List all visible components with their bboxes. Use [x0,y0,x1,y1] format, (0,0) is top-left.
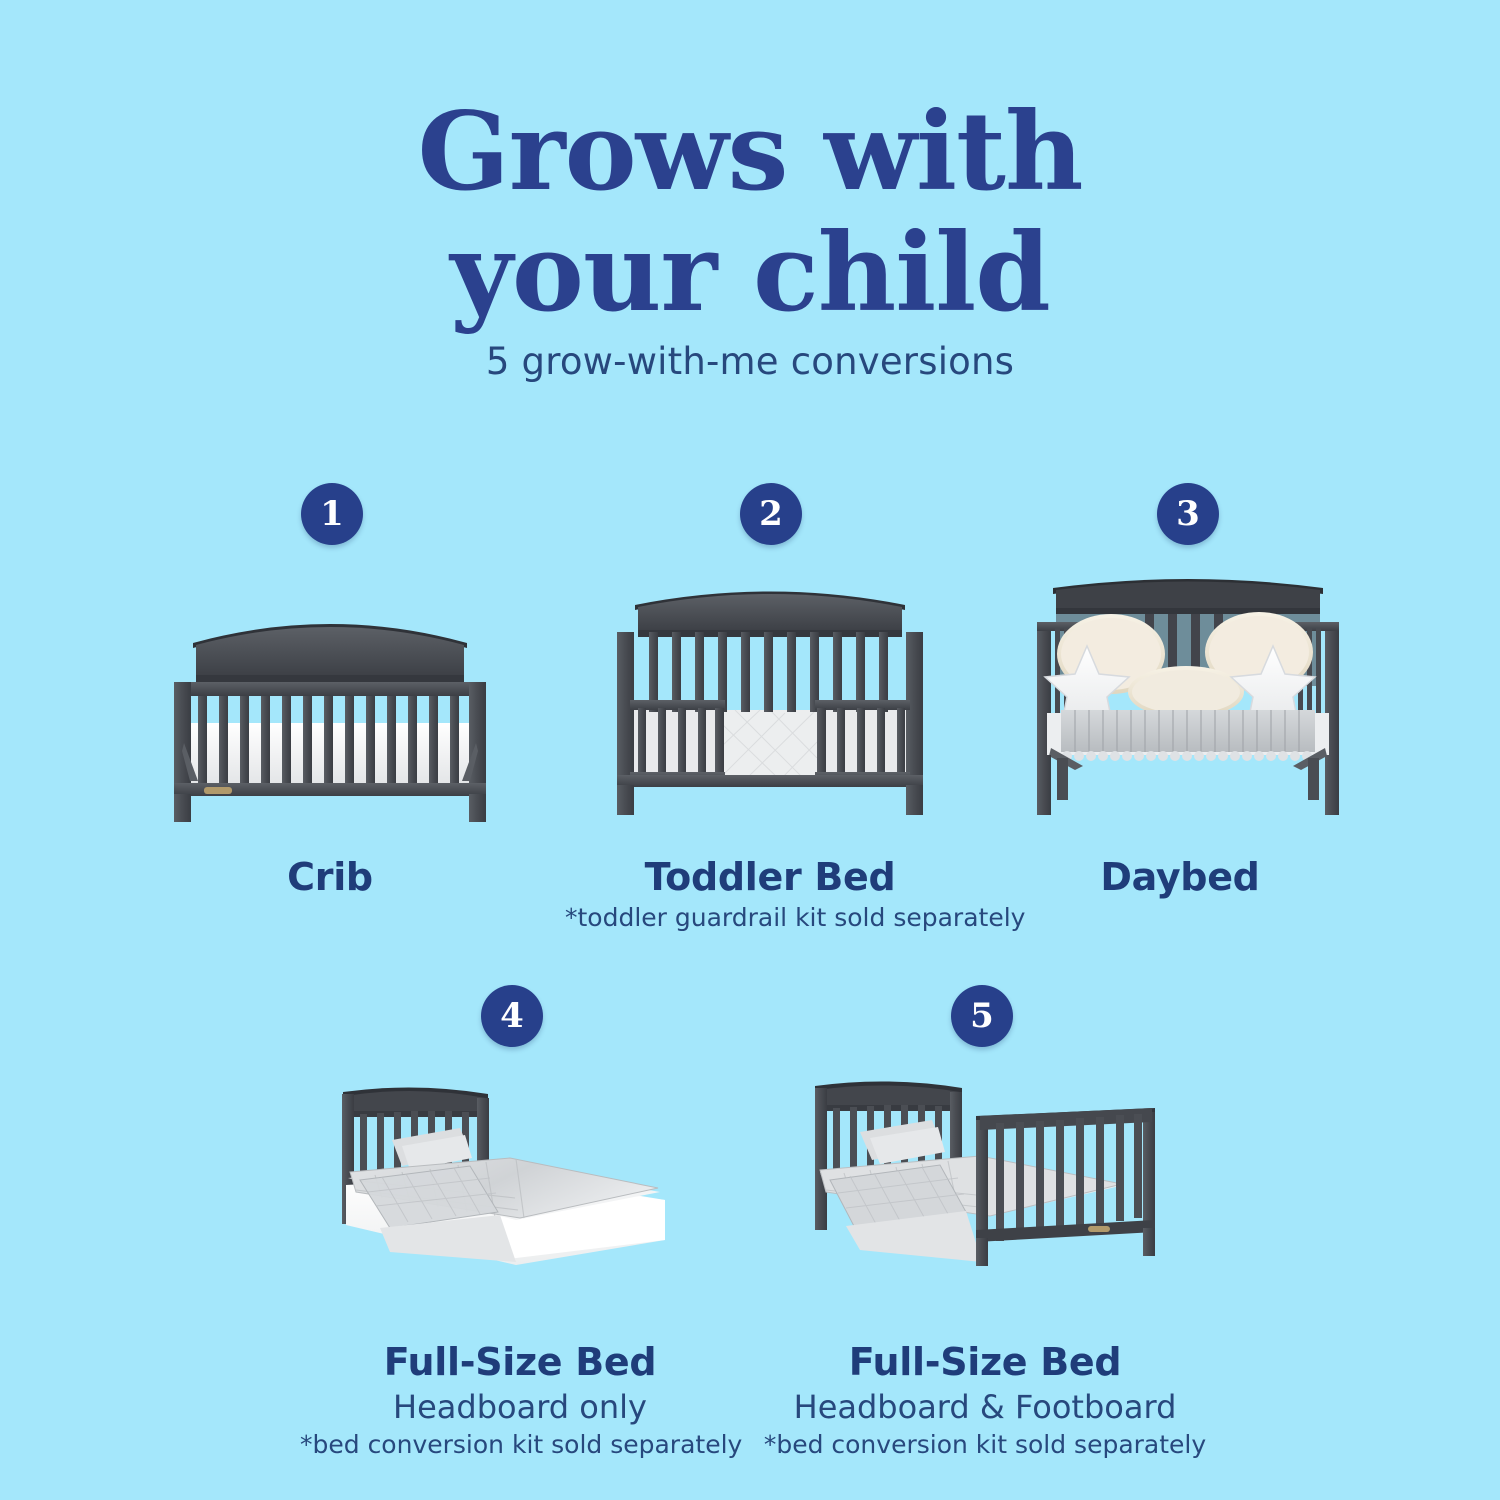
step-badge-1: 1 [301,483,363,545]
page-title-line-1: Grows with [418,89,1083,215]
caption-toddler-bed-title: Toddler Bed [565,855,975,899]
full-bed-headboard-footboard-icon [790,1080,1180,1280]
caption-full-bed-headboard-subtitle: Headboard only [300,1388,740,1426]
caption-full-bed-headboard-title: Full-Size Bed [300,1340,740,1384]
daybed-icon [1023,570,1353,820]
page-title-line-2: your child [0,213,1500,334]
caption-toddler-bed: Toddler Bed *toddler guardrail kit sold … [565,855,975,932]
caption-full-bed-headboard-footboard-note: *bed conversion kit sold separately [760,1430,1210,1459]
caption-full-bed-headboard-footboard: Full-Size Bed Headboard & Footboard *bed… [760,1340,1210,1459]
step-badge-1-number: 1 [320,494,344,534]
caption-daybed: Daybed [1080,855,1280,899]
step-badge-3-number: 3 [1176,494,1200,534]
step-badge-2: 2 [740,483,802,545]
step-badge-4-number: 4 [500,996,524,1036]
caption-crib-title: Crib [230,855,430,899]
full-bed-headboard-footboard-illustration [790,1080,1180,1280]
step-badge-3: 3 [1157,483,1219,545]
caption-toddler-bed-note: *toddler guardrail kit sold separately [565,903,975,932]
toddler-bed-icon [605,570,935,820]
caption-full-bed-headboard-footboard-title: Full-Size Bed [760,1340,1210,1384]
full-bed-headboard-icon [320,1080,720,1280]
infographic-canvas: Grows with your child 5 grow-with-me con… [0,0,1500,1500]
step-badge-2-number: 2 [759,494,783,534]
step-badge-5-number: 5 [970,996,994,1036]
step-badge-4: 4 [481,985,543,1047]
caption-full-bed-headboard: Full-Size Bed Headboard only *bed conver… [300,1340,740,1459]
page-subtitle: 5 grow-with-me conversions [0,340,1500,383]
caption-crib: Crib [230,855,430,899]
crib-illustration [160,575,500,825]
page-title: Grows with your child [0,92,1500,334]
caption-full-bed-headboard-note: *bed conversion kit sold separately [300,1430,740,1459]
full-bed-headboard-illustration [320,1080,720,1280]
crib-icon [160,575,500,825]
step-badge-5: 5 [951,985,1013,1047]
toddler-bed-illustration [605,570,935,820]
daybed-illustration [1023,570,1353,820]
caption-daybed-title: Daybed [1080,855,1280,899]
caption-full-bed-headboard-footboard-subtitle: Headboard & Footboard [760,1388,1210,1426]
